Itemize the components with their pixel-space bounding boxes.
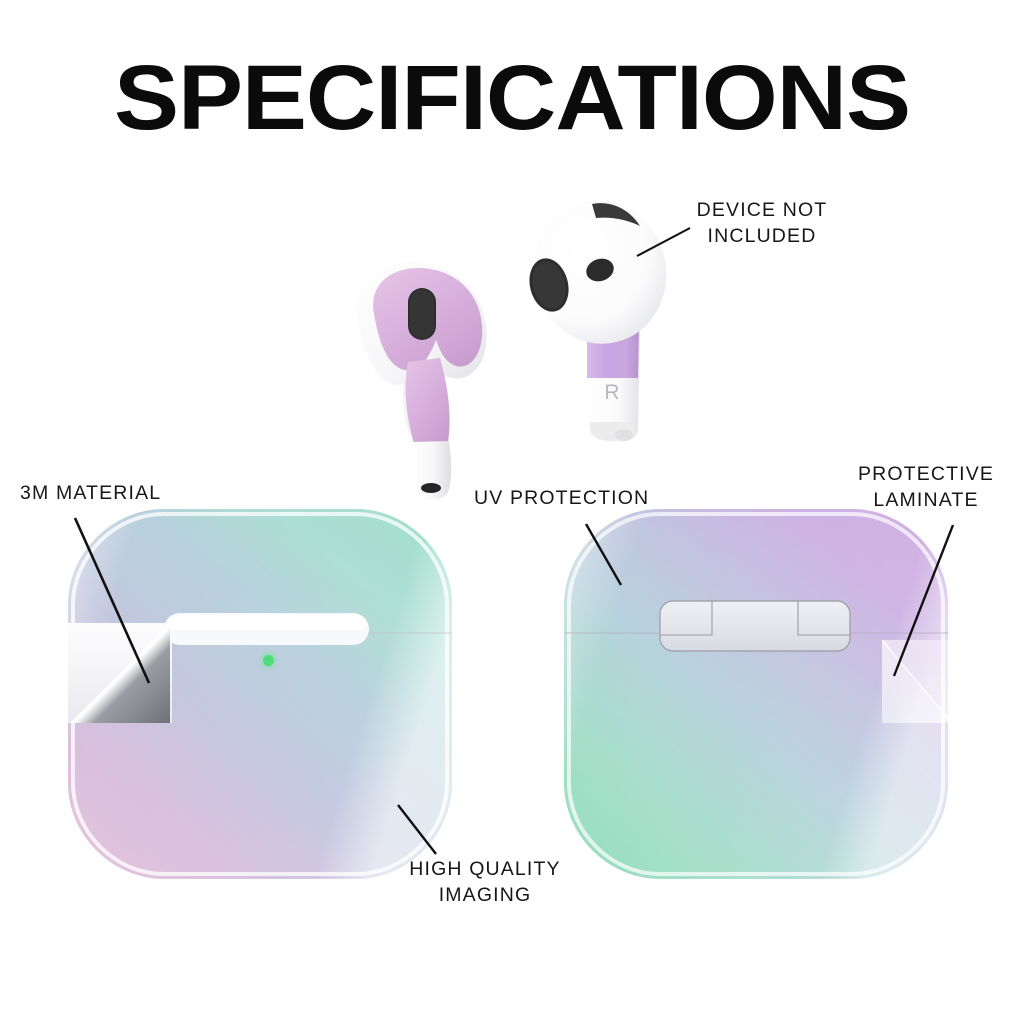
- callout-high-quality-imaging: HIGH QUALITY IMAGING: [373, 857, 597, 908]
- leader-protective-laminate: [894, 525, 953, 676]
- callout-protective-laminate: PROTECTIVE LAMINATE: [838, 462, 1014, 513]
- leader-3m-material: [75, 518, 149, 683]
- specifications-page: SPECIFICATIONS: [0, 0, 1024, 1024]
- leader-uv-protection: [586, 524, 621, 585]
- callout-3m-material: 3M MATERIAL: [20, 481, 260, 507]
- callout-uv-protection: UV PROTECTION: [474, 486, 714, 512]
- callout-device-not-included: DEVICE NOT INCLUDED: [672, 198, 852, 249]
- leader-high-quality-imaging: [398, 805, 436, 854]
